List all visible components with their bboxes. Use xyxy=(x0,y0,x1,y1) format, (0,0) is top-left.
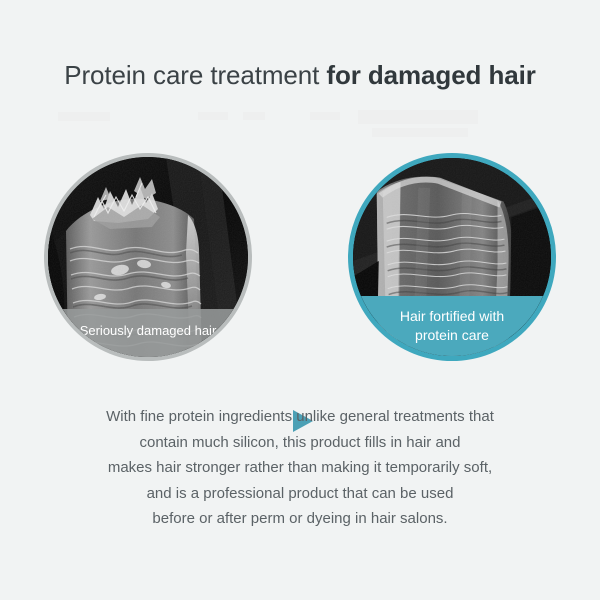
body-line: With fine protein ingredients unlike gen… xyxy=(0,404,600,430)
page-title: Protein care treatment for damaged hair xyxy=(0,58,600,92)
before-caption-text: Seriously damaged hair xyxy=(80,323,217,338)
after-image-circle: Hair fortified with protein care xyxy=(348,153,556,361)
after-caption-band: Hair fortified with protein care xyxy=(353,296,551,356)
body-line: before or after perm or dyeing in hair s… xyxy=(0,506,600,532)
page-title-bold: for damaged hair xyxy=(326,60,535,90)
body-description: With fine protein ingredients unlike gen… xyxy=(0,404,600,532)
body-line: and is a professional product that can b… xyxy=(0,481,600,507)
before-image-circle: Seriously damaged hair xyxy=(44,153,252,361)
after-caption-line-1: Hair fortified with xyxy=(353,307,551,326)
background-artifact xyxy=(243,112,265,120)
background-artifact xyxy=(358,110,478,124)
before-after-comparison: Seriously damaged hair xyxy=(0,153,600,365)
background-artifact xyxy=(310,112,340,120)
comparison-item-before: Seriously damaged hair xyxy=(44,153,252,361)
product-feature-page: Protein care treatment for damaged hair xyxy=(0,0,600,600)
body-line: contain much silicon, this product fills… xyxy=(0,430,600,456)
background-artifact xyxy=(58,112,110,121)
background-artifact xyxy=(372,128,468,137)
page-title-regular: Protein care treatment xyxy=(64,60,319,90)
comparison-item-after: Hair fortified with protein care xyxy=(348,153,556,361)
before-caption-band: Seriously damaged hair xyxy=(48,309,248,357)
after-caption-line-2: protein care xyxy=(353,326,551,345)
body-line: makes hair stronger rather than making i… xyxy=(0,455,600,481)
background-artifact xyxy=(198,112,228,120)
